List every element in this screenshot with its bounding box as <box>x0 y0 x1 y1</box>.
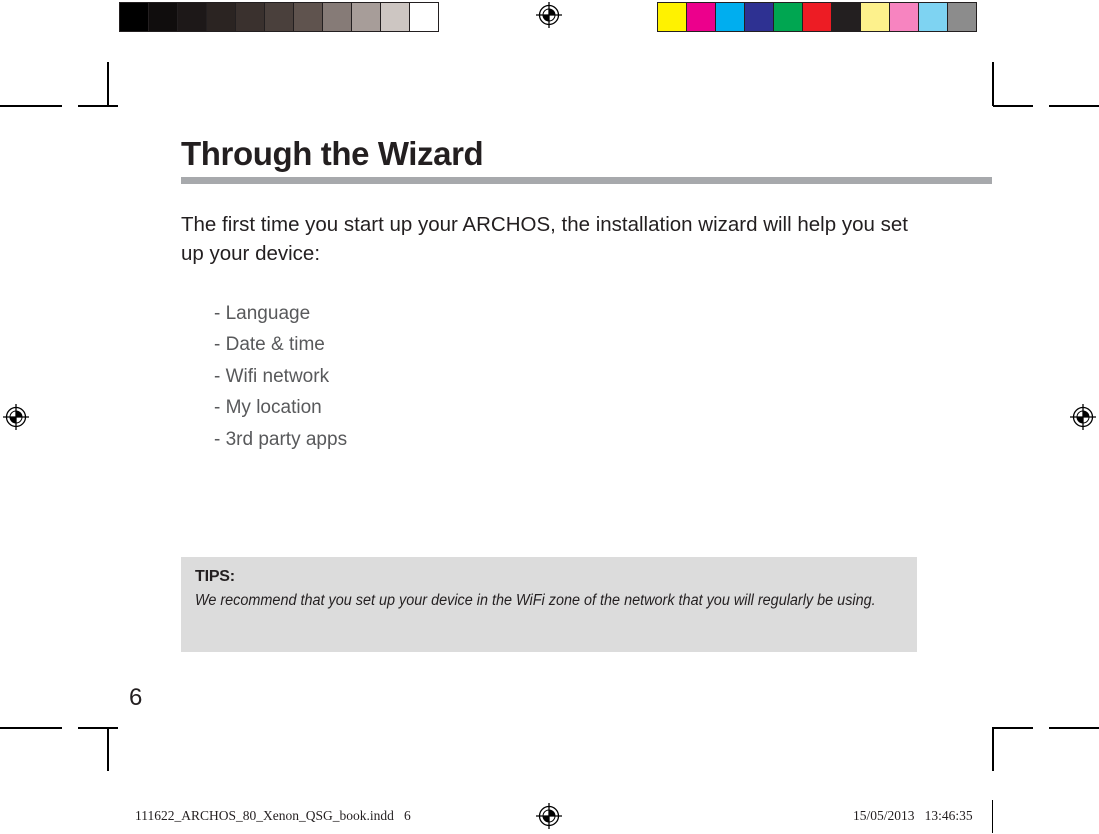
slug-divider-line <box>992 800 993 833</box>
crop-mark-top-left-vertical <box>107 62 109 106</box>
crop-mark-top-right-inner <box>993 105 1033 107</box>
tips-callout-box: TIPS: We recommend that you set up your … <box>181 557 917 652</box>
list-item: - Language <box>214 298 347 329</box>
crop-mark-bottom-left-vertical <box>107 727 109 771</box>
crop-mark-bottom-left-inner <box>78 727 118 729</box>
grayscale-swatch-1 <box>149 3 177 31</box>
page-title: Through the Wizard <box>181 135 483 173</box>
crop-mark-bottom-right-vertical <box>992 727 994 771</box>
registration-target-icon <box>1070 404 1096 430</box>
crop-mark-bottom-right-outer <box>1049 727 1099 729</box>
list-item: - 3rd party apps <box>214 424 347 455</box>
crop-mark-top-right-outer <box>1049 105 1099 107</box>
crop-mark-top-left-outer <box>0 105 62 107</box>
slug-filename: 111622_ARCHOS_80_Xenon_QSG_book.indd 6 <box>135 808 411 824</box>
tips-heading: TIPS: <box>195 568 903 586</box>
list-item: - Date & time <box>214 329 347 360</box>
title-underline-rule <box>181 177 992 184</box>
tips-body-text: We recommend that you set up your device… <box>195 589 902 612</box>
list-item: - Wifi network <box>214 361 347 392</box>
crop-mark-bottom-right-inner <box>993 727 1033 729</box>
page-number: 6 <box>129 684 142 712</box>
wizard-step-list: - Language - Date & time - Wifi network … <box>214 298 347 455</box>
crop-mark-top-right-vertical <box>992 62 994 106</box>
slug-datetime: 15/05/2013 13:46:35 <box>853 808 973 824</box>
list-item: - My location <box>214 392 347 423</box>
grayscale-swatch-0 <box>120 3 148 31</box>
intro-paragraph: The first time you start up your ARCHOS,… <box>181 211 926 268</box>
crop-mark-top-left-inner <box>78 105 118 107</box>
crop-mark-bottom-left-outer <box>0 727 62 729</box>
registration-target-icon <box>3 404 29 430</box>
page-content-area: Through the Wizard The first time you st… <box>181 0 992 833</box>
